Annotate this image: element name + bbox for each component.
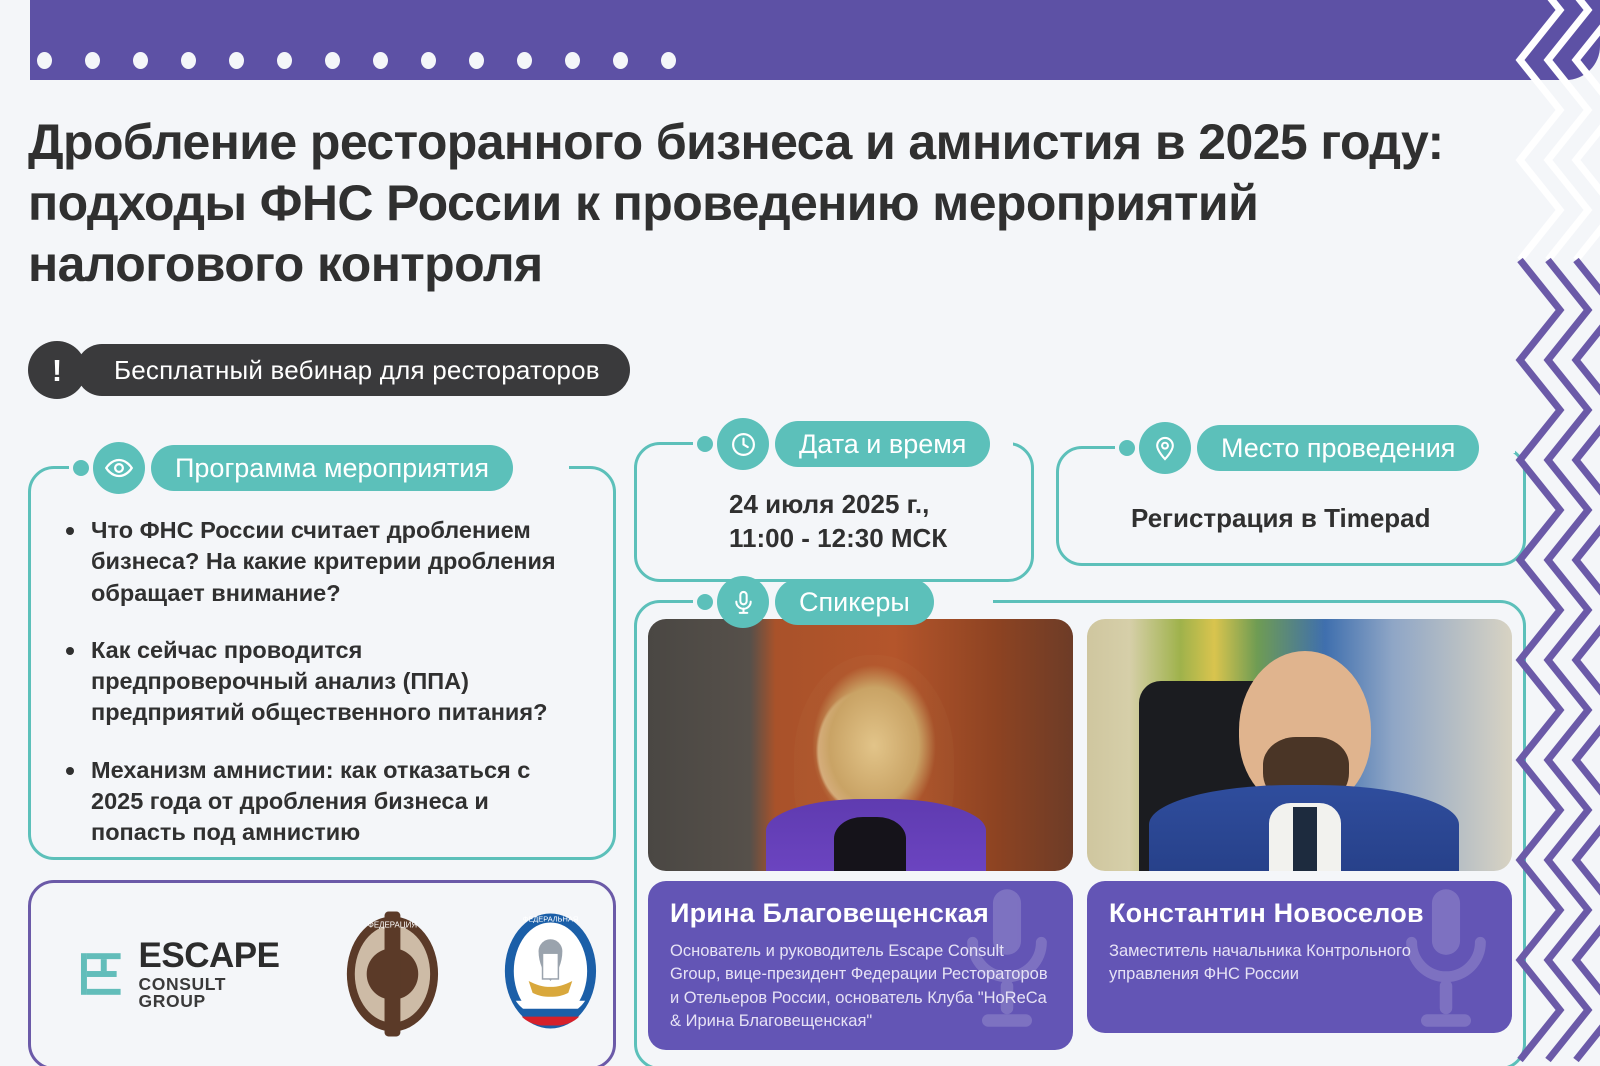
- federation-restaurateurs-hoteliers-logo: ФЕДЕРАЦИЯ: [331, 905, 455, 1043]
- escape-mark-icon: [79, 950, 127, 998]
- speaker-name: Ирина Благовещенская: [670, 898, 1051, 929]
- page-title: Дробление ресторанного бизнеса и амнисти…: [28, 112, 1538, 295]
- free-webinar-label: Бесплатный вебинар для рестораторов: [76, 344, 630, 396]
- free-webinar-badge: ! Бесплатный вебинар для рестораторов: [28, 341, 630, 399]
- connector-dot: [1119, 440, 1135, 456]
- speakers-list: Ирина Благовещенская Основатель и руково…: [648, 619, 1512, 1050]
- eye-icon: [93, 442, 145, 494]
- speaker-item: Константин Новоселов Заместитель начальн…: [1087, 619, 1512, 1050]
- datetime-line-1: 24 июля 2025 г.,: [729, 487, 1031, 521]
- place-value: Регистрация в Timepad: [1131, 503, 1523, 534]
- logos-card: ESCAPE CONSULT GROUP ФЕДЕРАЦИЯ: [28, 880, 616, 1066]
- list-item: Что ФНС России считает дроблением бизнес…: [57, 515, 577, 609]
- poster-root: Дробление ресторанного бизнеса и амнисти…: [0, 0, 1600, 1066]
- connector-dot: [697, 436, 713, 452]
- program-card: Программа мероприятия Что ФНС России счи…: [28, 466, 616, 860]
- escape-logo-title: ESCAPE: [139, 938, 298, 973]
- clock-icon: [717, 418, 769, 470]
- program-list: Что ФНС России считает дроблением бизнес…: [57, 515, 577, 848]
- logo-row: ESCAPE CONSULT GROUP ФЕДЕРАЦИЯ: [79, 905, 613, 1043]
- place-title: Место проведения: [1197, 425, 1479, 471]
- escape-consult-group-logo: ESCAPE CONSULT GROUP: [79, 938, 297, 1011]
- dot-row: [37, 52, 676, 69]
- connector-dot: [73, 460, 89, 476]
- datetime-card: Дата и время 24 июля 2025 г., 11:00 - 12…: [634, 442, 1034, 582]
- datetime-value: 24 июля 2025 г., 11:00 - 12:30 МСК: [729, 487, 1031, 556]
- federal-tax-service-logo: ФЕДЕРАЛЬНАЯ: [489, 905, 613, 1043]
- connector-dot: [697, 594, 713, 610]
- speaker-info: Константин Новоселов Заместитель начальн…: [1087, 881, 1512, 1033]
- dot-pattern: [37, 52, 676, 114]
- speaker-photo-konstantin: [1087, 619, 1512, 871]
- speakers-card: Спикеры Ирина Благовещенская: [634, 600, 1526, 1066]
- list-item: Как сейчас проводится предпроверочный ан…: [57, 635, 577, 729]
- speaker-item: Ирина Благовещенская Основатель и руково…: [648, 619, 1073, 1050]
- datetime-title: Дата и время: [775, 421, 990, 467]
- speakers-title: Спикеры: [775, 579, 934, 625]
- svg-text:ФЕДЕРАЦИЯ: ФЕДЕРАЦИЯ: [368, 920, 418, 929]
- map-pin-icon: [1139, 422, 1191, 474]
- datetime-line-2: 11:00 - 12:30 МСК: [729, 521, 1031, 555]
- place-card: Место проведения Регистрация в Timepad: [1056, 446, 1526, 566]
- list-item: Механизм амнистии: как отказаться с 2025…: [57, 755, 577, 849]
- speaker-role: Основатель и руководитель Escape Consult…: [670, 940, 1051, 1034]
- speaker-photo-irina: [648, 619, 1073, 871]
- program-title: Программа мероприятия: [151, 445, 513, 491]
- speaker-name: Константин Новоселов: [1109, 898, 1490, 929]
- escape-logo-subtitle: CONSULT GROUP: [139, 976, 298, 1011]
- svg-text:ФЕДЕРАЛЬНАЯ: ФЕДЕРАЛЬНАЯ: [523, 914, 579, 923]
- speaker-role: Заместитель начальника Контрольного упра…: [1109, 940, 1490, 987]
- speaker-info: Ирина Благовещенская Основатель и руково…: [648, 881, 1073, 1050]
- microphone-icon: [717, 576, 769, 628]
- exclamation-icon: !: [28, 341, 86, 399]
